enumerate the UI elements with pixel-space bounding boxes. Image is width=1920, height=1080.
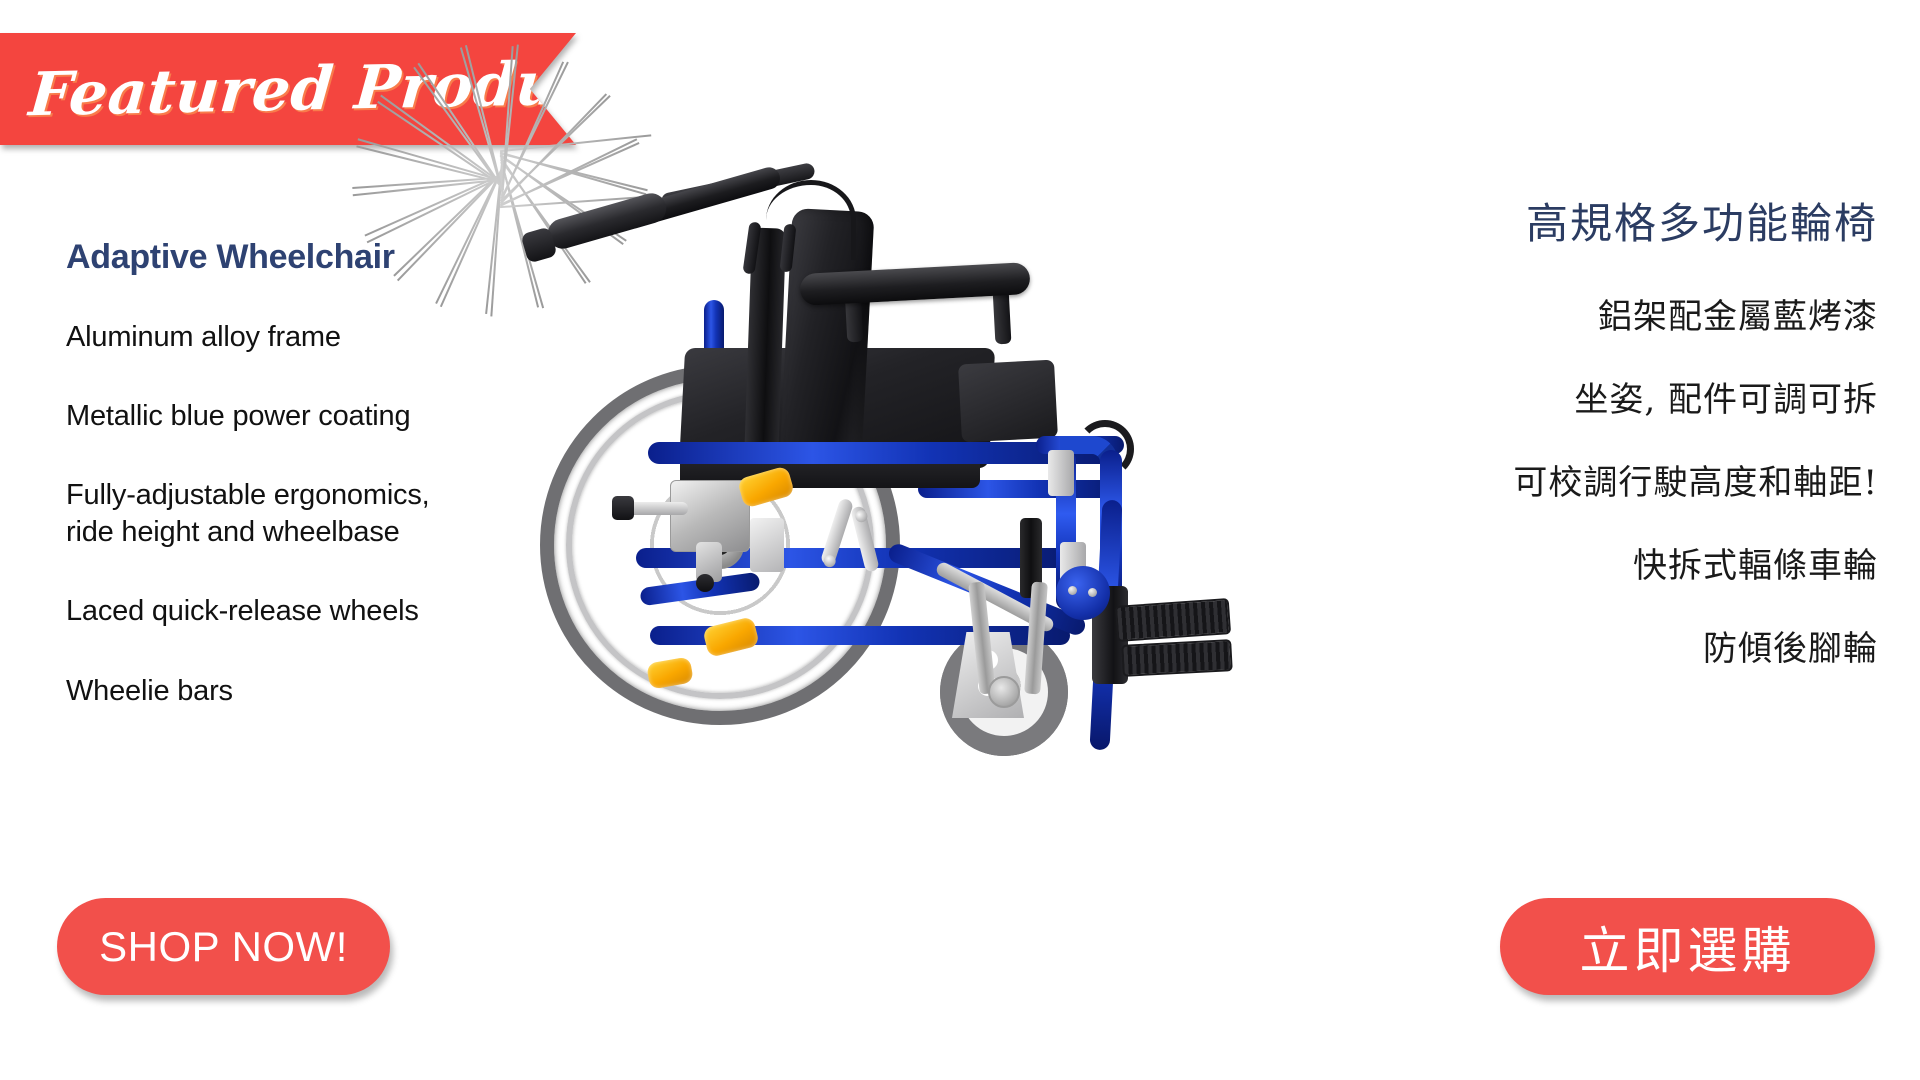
ribbon-shape: Featured Product xyxy=(0,33,576,145)
footplate-upper xyxy=(1115,598,1231,642)
feature-item-5: Wheelie bars xyxy=(66,673,546,710)
chinese-feature-3: 可校調行駛高度和軸距! xyxy=(1408,455,1878,504)
chinese-product-title: 高規格多功能輪椅 xyxy=(1408,190,1878,251)
pivot-bolt xyxy=(1088,588,1097,597)
axle-mounting-plate xyxy=(750,518,784,572)
english-content-column: Adaptive Wheelchair Aluminum alloy frame… xyxy=(66,238,546,710)
poster-canvas: Featured Product Adaptive Wheelchair Alu… xyxy=(0,0,1920,1080)
shop-now-button-chinese[interactable]: 立即選購 xyxy=(1500,898,1875,995)
chinese-feature-2: 坐姿, 配件可調可拆 xyxy=(1408,372,1878,421)
caster-pivot-housing xyxy=(1056,566,1110,620)
chinese-feature-4: 快拆式輻條車輪 xyxy=(1408,538,1878,587)
side-guard xyxy=(958,360,1058,443)
legrest-clamp-upper xyxy=(1048,450,1074,496)
shop-now-button[interactable]: SHOP NOW! xyxy=(57,898,390,995)
feature-item-4: Laced quick-release wheels xyxy=(66,593,546,630)
wheel-lock-arm xyxy=(628,502,688,515)
chinese-content-column: 高規格多功能輪椅 鋁架配金屬藍烤漆 坐姿, 配件可調可拆 可校調行駛高度和軸距!… xyxy=(1408,190,1878,670)
wheel-spoke xyxy=(356,146,504,184)
footplate-lower xyxy=(1121,639,1233,677)
feature-item-2: Metallic blue power coating xyxy=(66,398,546,435)
product-title: Adaptive Wheelchair xyxy=(66,238,546,277)
wheel-lock-pin xyxy=(696,574,714,592)
pivot-bolt xyxy=(1068,586,1077,595)
feature-item-1: Aluminum alloy frame xyxy=(66,319,546,356)
brake-cable xyxy=(766,180,856,260)
chinese-feature-1: 鋁架配金屬藍烤漆 xyxy=(1408,289,1878,338)
armrest-post-rear xyxy=(993,288,1012,345)
wheelchair-product-image xyxy=(500,150,1360,950)
featured-product-ribbon: Featured Product xyxy=(0,33,576,145)
front-caster-hub xyxy=(988,676,1020,708)
wheel-lock-knob xyxy=(612,496,634,520)
feature-item-3: Fully-adjustable ergonomics, ride height… xyxy=(66,477,546,551)
chinese-feature-5: 防傾後腳輪 xyxy=(1408,621,1878,670)
